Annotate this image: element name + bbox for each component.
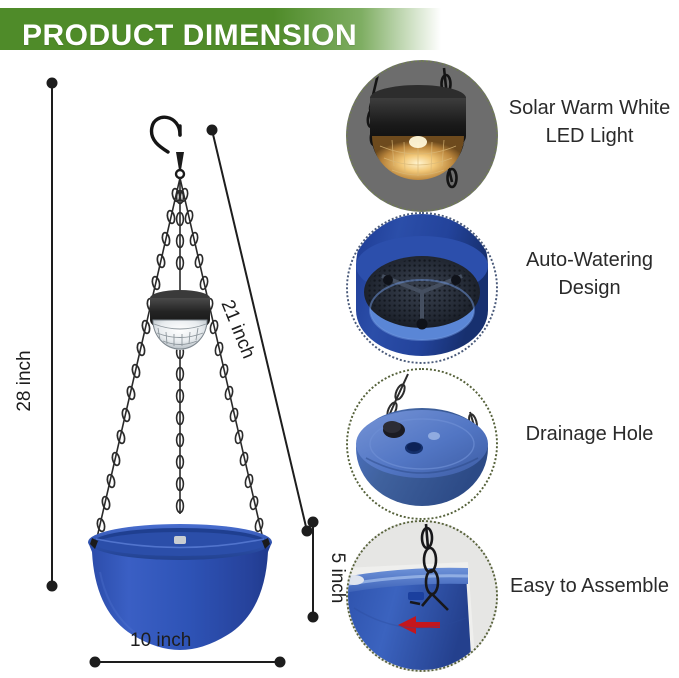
feature-line-1: Auto-Watering <box>500 246 679 274</box>
diagram-artwork <box>0 52 340 678</box>
pot-clip-slot <box>408 592 424 600</box>
dimension-line-10 <box>91 658 285 667</box>
feature-label-solar-light: Solar Warm White LED Light <box>500 94 679 150</box>
chain-split-ring <box>176 170 184 178</box>
dimension-diagram: 28 inch 21 inch 5 inch 10 inch <box>0 52 340 678</box>
chain-left <box>96 178 181 542</box>
product-dimension-infographic: PRODUCT DIMENSION <box>0 0 679 678</box>
feature-line-2: LED Light <box>500 122 679 150</box>
auto-watering-photo <box>346 212 498 364</box>
feature-line-1: Drainage Hole <box>500 420 679 448</box>
feature-label-easy-assemble: Easy to Assemble <box>500 572 679 600</box>
hanging-hook <box>151 117 180 152</box>
feature-drainage-hole: Drainage Hole <box>340 368 679 520</box>
solar-light-photo <box>346 60 498 212</box>
feature-label-drainage-hole: Drainage Hole <box>500 420 679 448</box>
feature-solar-light: Solar Warm White LED Light <box>340 60 679 212</box>
page-title: PRODUCT DIMENSION <box>22 20 357 52</box>
feature-line-2: Design <box>500 274 679 302</box>
feature-line-1: Solar Warm White <box>500 94 679 122</box>
dimension-label-28: 28 inch <box>14 344 36 418</box>
feature-easy-assemble: Easy to Assemble <box>340 520 679 672</box>
solar-light-lamp <box>150 290 210 350</box>
dimension-label-10: 10 inch <box>130 630 191 652</box>
feature-label-auto-watering: Auto-Watering Design <box>500 246 679 302</box>
easy-assemble-photo <box>346 520 498 672</box>
feature-auto-watering: Auto-Watering Design <box>340 212 679 364</box>
dimension-line-21 <box>208 126 312 536</box>
feature-line-1: Easy to Assemble <box>500 572 679 600</box>
feature-list: Solar Warm White LED Light <box>340 52 679 678</box>
chain-right <box>179 178 264 539</box>
header-banner: PRODUCT DIMENSION <box>0 8 441 50</box>
dimension-line-28 <box>48 79 57 591</box>
drainage-hole-photo <box>346 368 498 520</box>
hook-shank <box>176 152 184 170</box>
